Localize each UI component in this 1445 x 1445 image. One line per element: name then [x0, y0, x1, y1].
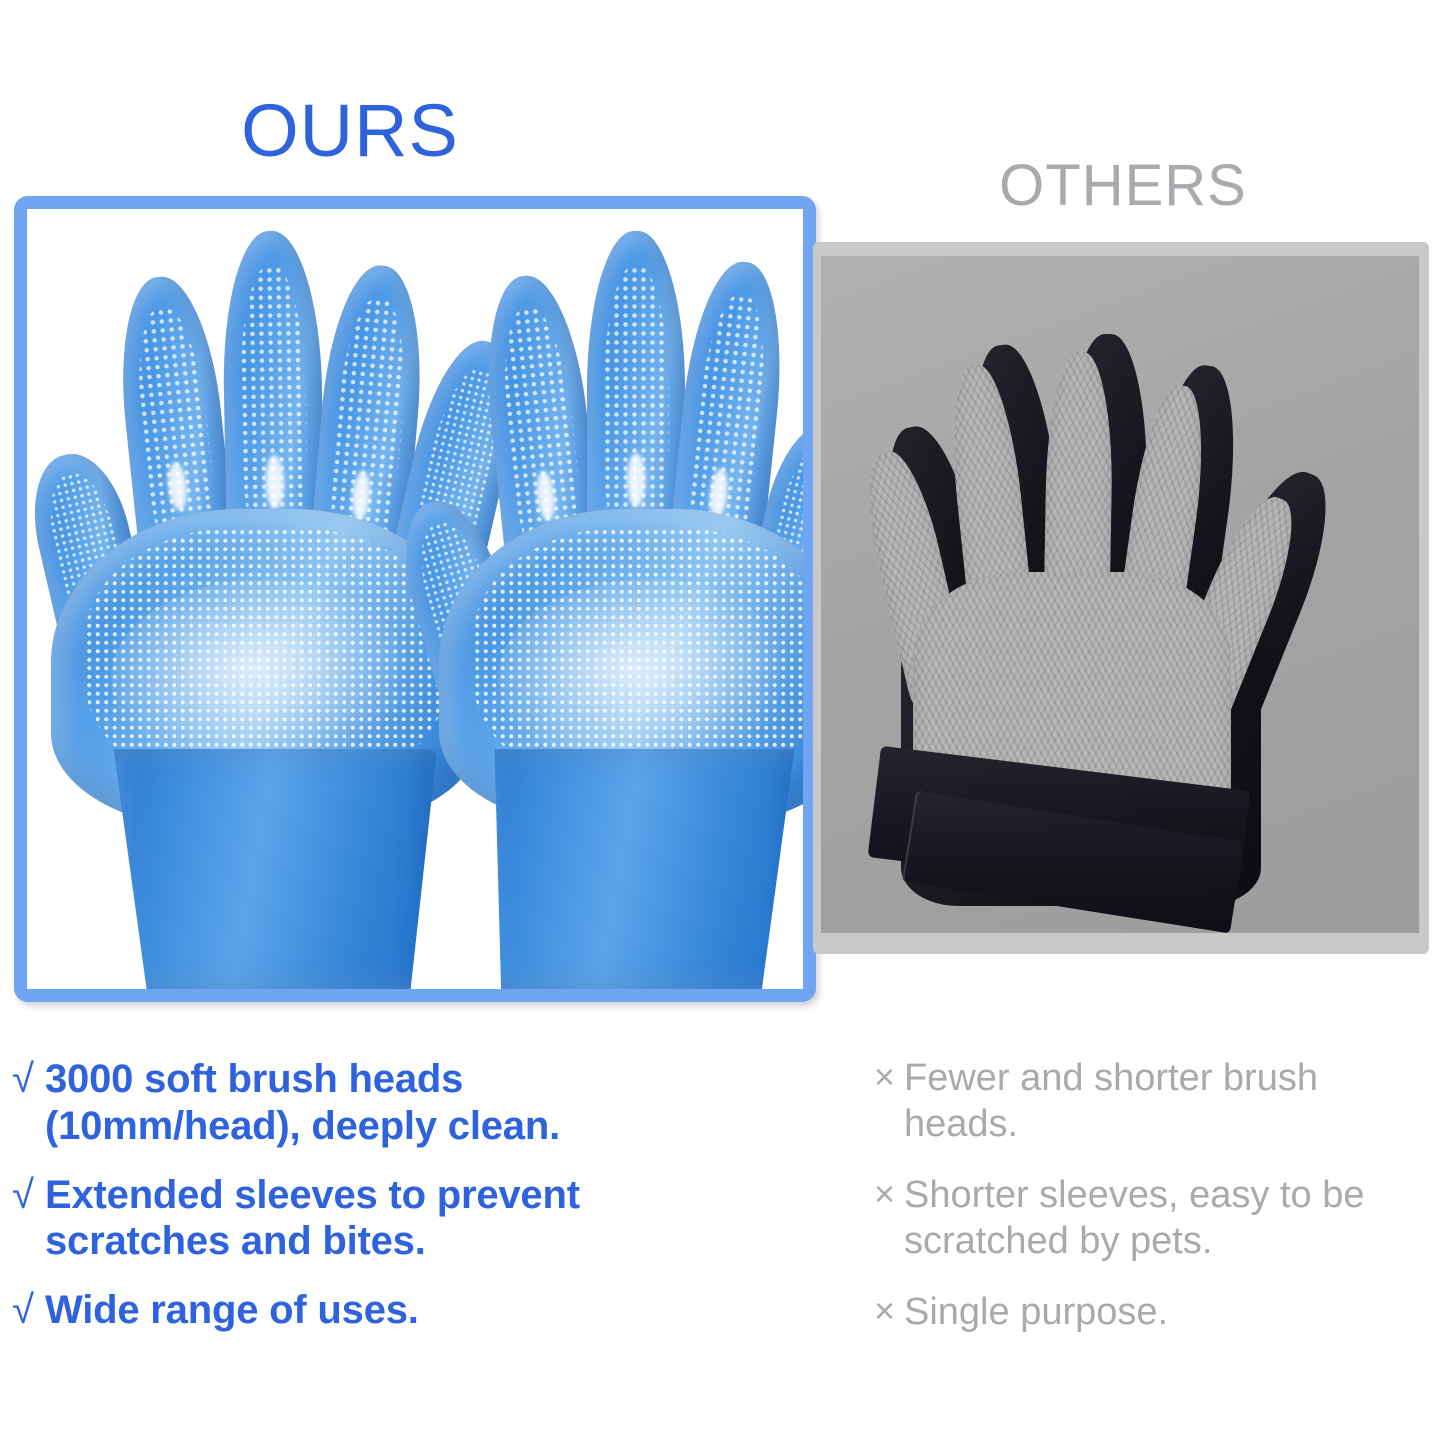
ours-feature-list: √ 3000 soft brush heads (10mm/head), dee…: [12, 1056, 712, 1356]
others-heading: OTHERS: [818, 152, 1428, 219]
others-product-image: [821, 256, 1419, 933]
others-drawback-text: Fewer and shorter brush heads.: [904, 1056, 1434, 1147]
ours-feature-item: √ 3000 soft brush heads (10mm/head), dee…: [12, 1056, 712, 1150]
others-drawback-item: × Single purpose.: [874, 1290, 1434, 1336]
comparison-infographic: OURS OTHERS: [0, 0, 1445, 1445]
check-icon: √: [12, 1287, 45, 1333]
palm-highlight: [111, 579, 421, 777]
cross-icon: ×: [874, 1290, 904, 1332]
ours-feature-item: √ Extended sleeves to prevent scratches …: [12, 1172, 712, 1266]
others-drawback-item: × Shorter sleeves, easy to be scratched …: [874, 1173, 1434, 1264]
ours-feature-text: Extended sleeves to prevent scratches an…: [45, 1172, 712, 1266]
others-product-frame: [813, 242, 1429, 954]
cross-icon: ×: [874, 1173, 904, 1215]
ours-feature-text: 3000 soft brush heads (10mm/head), deepl…: [45, 1056, 712, 1150]
check-icon: √: [12, 1056, 45, 1102]
others-drawback-text: Single purpose.: [904, 1290, 1434, 1336]
others-drawback-list: × Fewer and shorter brush heads. × Short…: [874, 1056, 1434, 1362]
ours-heading: OURS: [0, 88, 700, 173]
others-drawback-item: × Fewer and shorter brush heads.: [874, 1056, 1434, 1147]
glove-highlight: [627, 453, 645, 507]
ours-feature-text: Wide range of uses.: [45, 1287, 712, 1334]
cross-icon: ×: [874, 1056, 904, 1098]
palm-highlight: [498, 579, 800, 776]
ours-feature-item: √ Wide range of uses.: [12, 1287, 712, 1334]
ours-product-image: [27, 209, 803, 989]
check-icon: √: [12, 1172, 45, 1218]
glove-sleeve: [107, 749, 437, 989]
others-drawback-text: Shorter sleeves, easy to be scratched by…: [904, 1173, 1434, 1264]
ours-product-frame: [14, 196, 816, 1002]
glove-sleeve: [475, 749, 801, 989]
